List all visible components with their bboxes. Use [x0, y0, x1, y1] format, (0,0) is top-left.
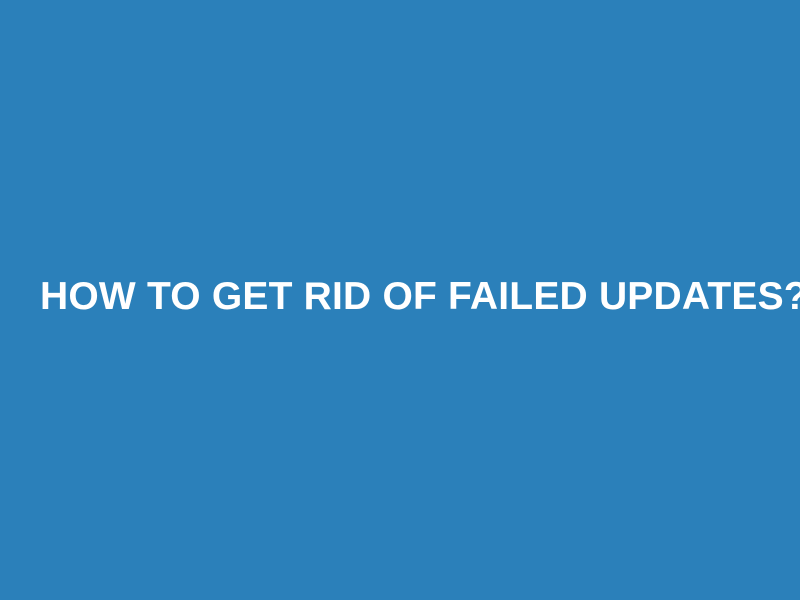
- title-card: HOW TO GET RID OF FAILED UPDATES?: [0, 0, 800, 600]
- title-container: HOW TO GET RID OF FAILED UPDATES?: [0, 274, 800, 320]
- page-title: HOW TO GET RID OF FAILED UPDATES?: [40, 274, 760, 320]
